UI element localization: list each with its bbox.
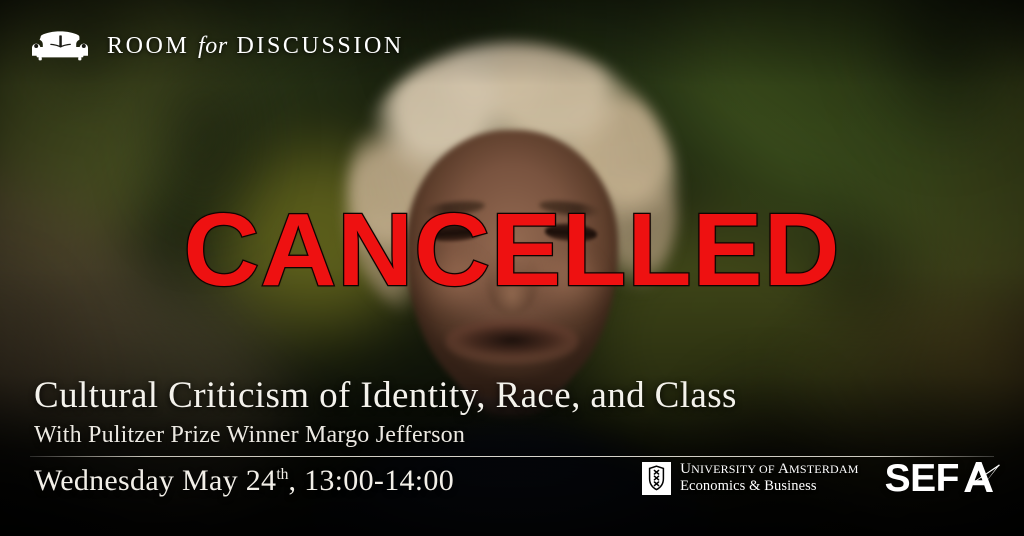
sefa-logo-text: SEF: [885, 459, 959, 498]
brand-name-part1: ROOM: [107, 33, 189, 59]
date-ordinal-suffix: th: [276, 466, 288, 483]
uva-cap-u: U: [680, 461, 691, 477]
sefa-logo: SEF: [885, 458, 1000, 498]
brand-logo-text: ROOM for DISCUSSION: [107, 33, 404, 60]
uva-logo: UNIVERSITY OF AMSTERDAM Economics & Busi…: [642, 461, 859, 494]
uva-logo-text: UNIVERSITY OF AMSTERDAM Economics & Busi…: [680, 461, 859, 494]
amsterdam-coat-of-arms-icon: [642, 462, 671, 495]
brand-logo: ROOM for DISCUSSION: [31, 27, 404, 66]
event-datetime: Wednesday May 24th, 13:00-14:00: [34, 464, 454, 498]
brand-name-italic: for: [198, 33, 228, 59]
uva-name-line: UNIVERSITY OF AMSTERDAM: [680, 461, 859, 478]
uva-smallcaps-msterdam: MSTERDAM: [789, 462, 859, 476]
uva-faculty-line: Economics & Business: [680, 478, 859, 494]
event-headline: Cultural Criticism of Identity, Race, an…: [34, 376, 737, 417]
sofa-icon: [31, 27, 89, 66]
event-subheadline: With Pulitzer Prize Winner Margo Jeffers…: [34, 422, 465, 450]
sefa-swoosh-a-icon: [959, 458, 1000, 498]
uva-smallcaps-niversity: NIVERSITY: [691, 462, 756, 476]
brand-name-part2: DISCUSSION: [236, 33, 403, 59]
uva-smallcaps-of: OF: [756, 462, 778, 476]
portrait-smile: [446, 320, 578, 364]
partner-logos: UNIVERSITY OF AMSTERDAM Economics & Busi…: [642, 458, 1000, 498]
event-banner: ROOM for DISCUSSION CANCELLED Cultural C…: [0, 0, 1024, 536]
event-time-range: , 13:00-14:00: [288, 464, 454, 497]
uva-cap-a: A: [778, 461, 789, 477]
cancelled-stamp: CANCELLED: [0, 198, 1024, 301]
horizontal-divider: [30, 456, 994, 457]
event-date: Wednesday May 24: [34, 464, 276, 497]
